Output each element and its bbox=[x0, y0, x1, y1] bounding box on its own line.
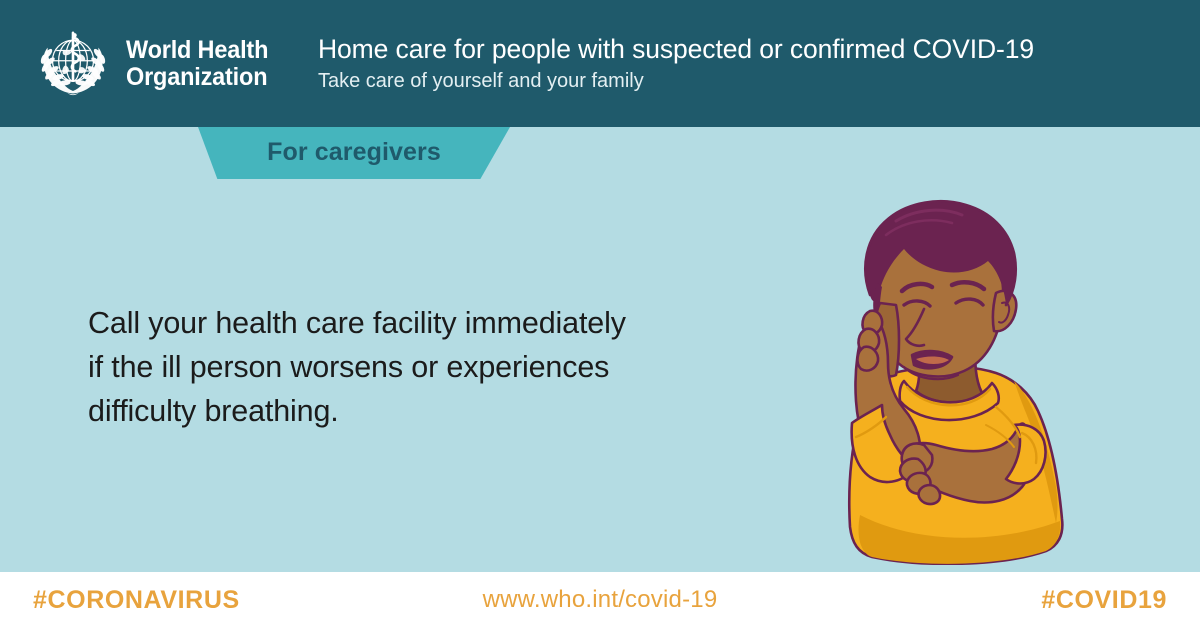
content-area: For caregivers Call your health care fac… bbox=[0, 127, 1200, 572]
who-covid-infographic: World Health Organization Home care for … bbox=[0, 0, 1200, 628]
audience-tab: For caregivers bbox=[198, 127, 510, 179]
who-wordmark-line2: Organization bbox=[126, 63, 267, 91]
header-text-block: Home care for people with suspected or c… bbox=[318, 34, 1034, 93]
footer-hashtag-covid19: #COVID19 bbox=[1041, 586, 1167, 615]
main-message-line-1: Call your health care facility immediate… bbox=[88, 302, 728, 346]
page-subtitle: Take care of yourself and your family bbox=[318, 69, 1034, 93]
who-wordmark-line1: World Health bbox=[126, 36, 268, 64]
main-message-line-3: difficulty breathing. bbox=[88, 390, 728, 434]
footer-bar: #CORONAVIRUS www.who.int/covid-19 #COVID… bbox=[0, 572, 1200, 628]
who-emblem-icon bbox=[32, 23, 114, 105]
audience-tab-label: For caregivers bbox=[267, 138, 441, 167]
main-message-line-2: if the ill person worsens or experiences bbox=[88, 346, 728, 390]
who-wordmark: World Health Organization bbox=[126, 37, 268, 91]
page-title: Home care for people with suspected or c… bbox=[318, 34, 1034, 64]
person-on-phone-holding-stomach-illustration bbox=[800, 175, 1100, 565]
header-bar: World Health Organization Home care for … bbox=[0, 0, 1200, 127]
main-message: Call your health care facility immediate… bbox=[88, 302, 728, 434]
footer-website-url[interactable]: www.who.int/covid-19 bbox=[0, 586, 1200, 614]
who-logo: World Health Organization bbox=[32, 23, 294, 105]
